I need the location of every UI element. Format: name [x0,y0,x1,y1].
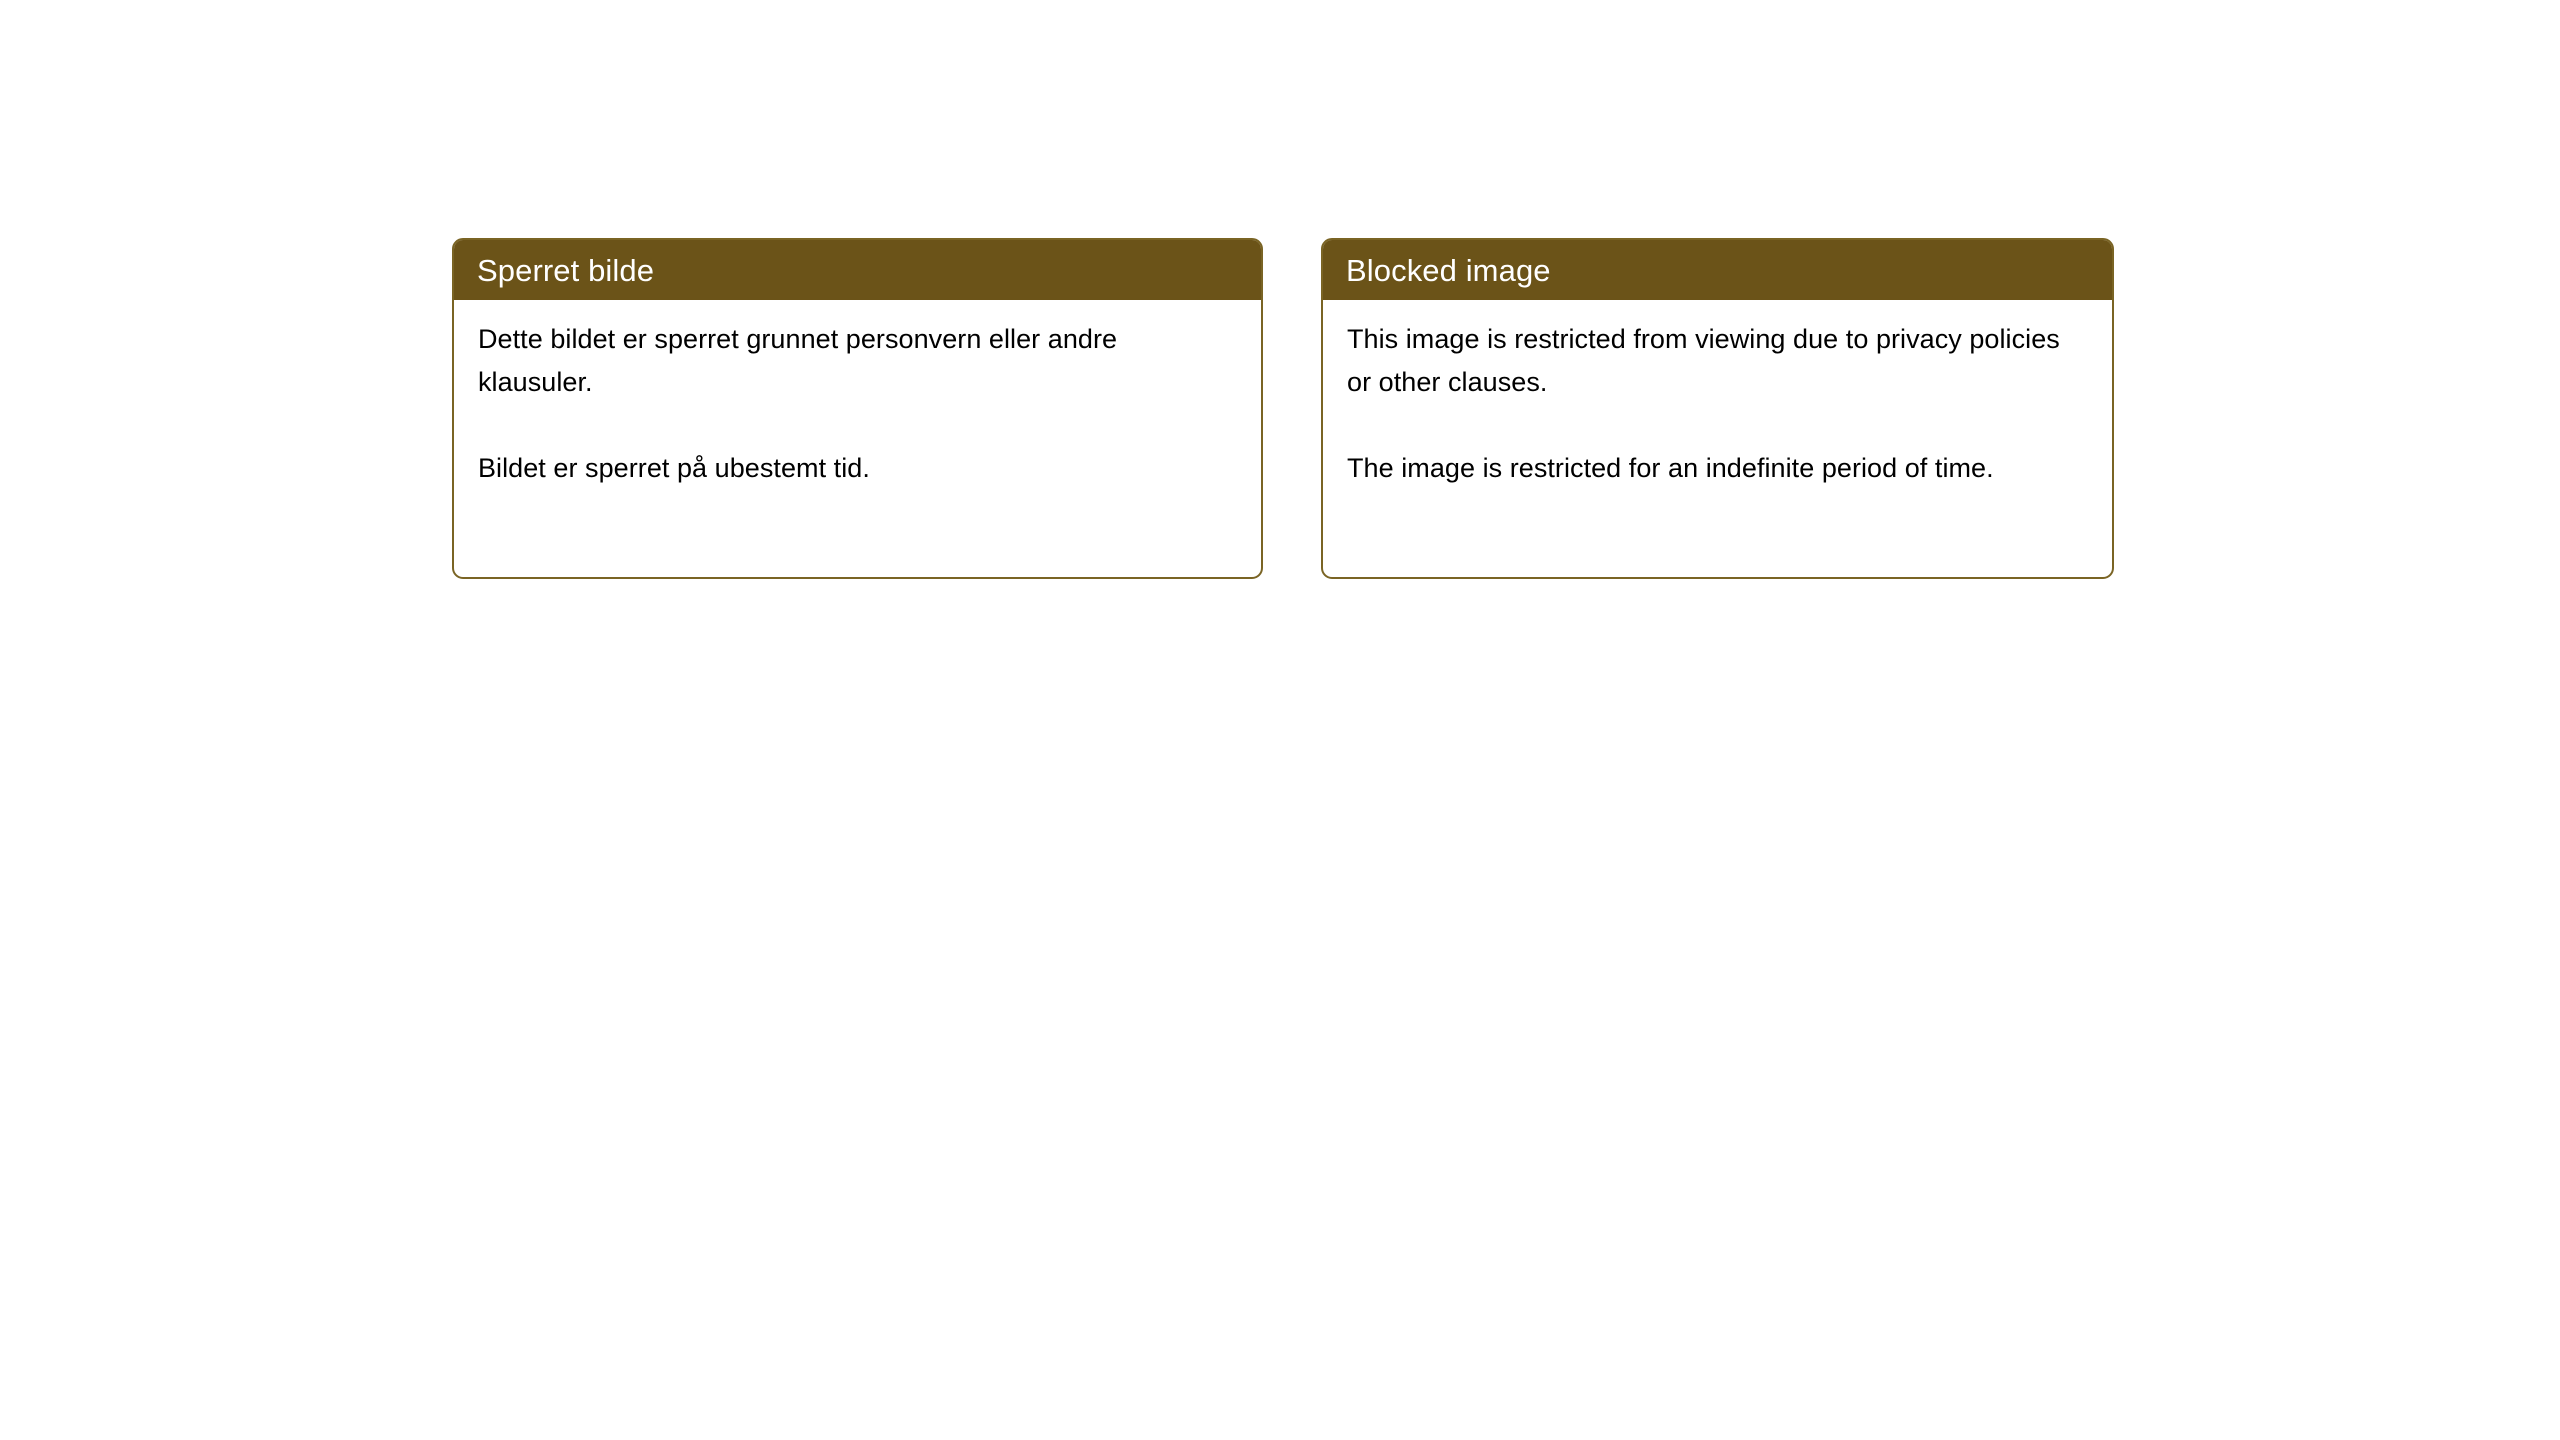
card-header-en: Blocked image [1323,240,2112,300]
card-header-no: Sperret bilde [454,240,1261,300]
card-title-no: Sperret bilde [477,255,654,286]
card-body-no: Dette bildet er sperret grunnet personve… [454,300,1261,490]
card-paragraph-duration-no: Bildet er sperret på ubestemt tid. [478,447,1239,490]
card-paragraph-reason-en: This image is restricted from viewing du… [1347,318,2090,404]
card-paragraph-duration-en: The image is restricted for an indefinit… [1347,447,2090,490]
card-paragraph-reason-no: Dette bildet er sperret grunnet personve… [478,318,1239,404]
card-body-en: This image is restricted from viewing du… [1323,300,2112,490]
blocked-image-notice-no: Sperret bilde Dette bildet er sperret gr… [452,238,1263,579]
page-root: Sperret bilde Dette bildet er sperret gr… [0,0,2560,1440]
blocked-image-notice-en: Blocked image This image is restricted f… [1321,238,2114,579]
card-title-en: Blocked image [1346,255,1551,286]
